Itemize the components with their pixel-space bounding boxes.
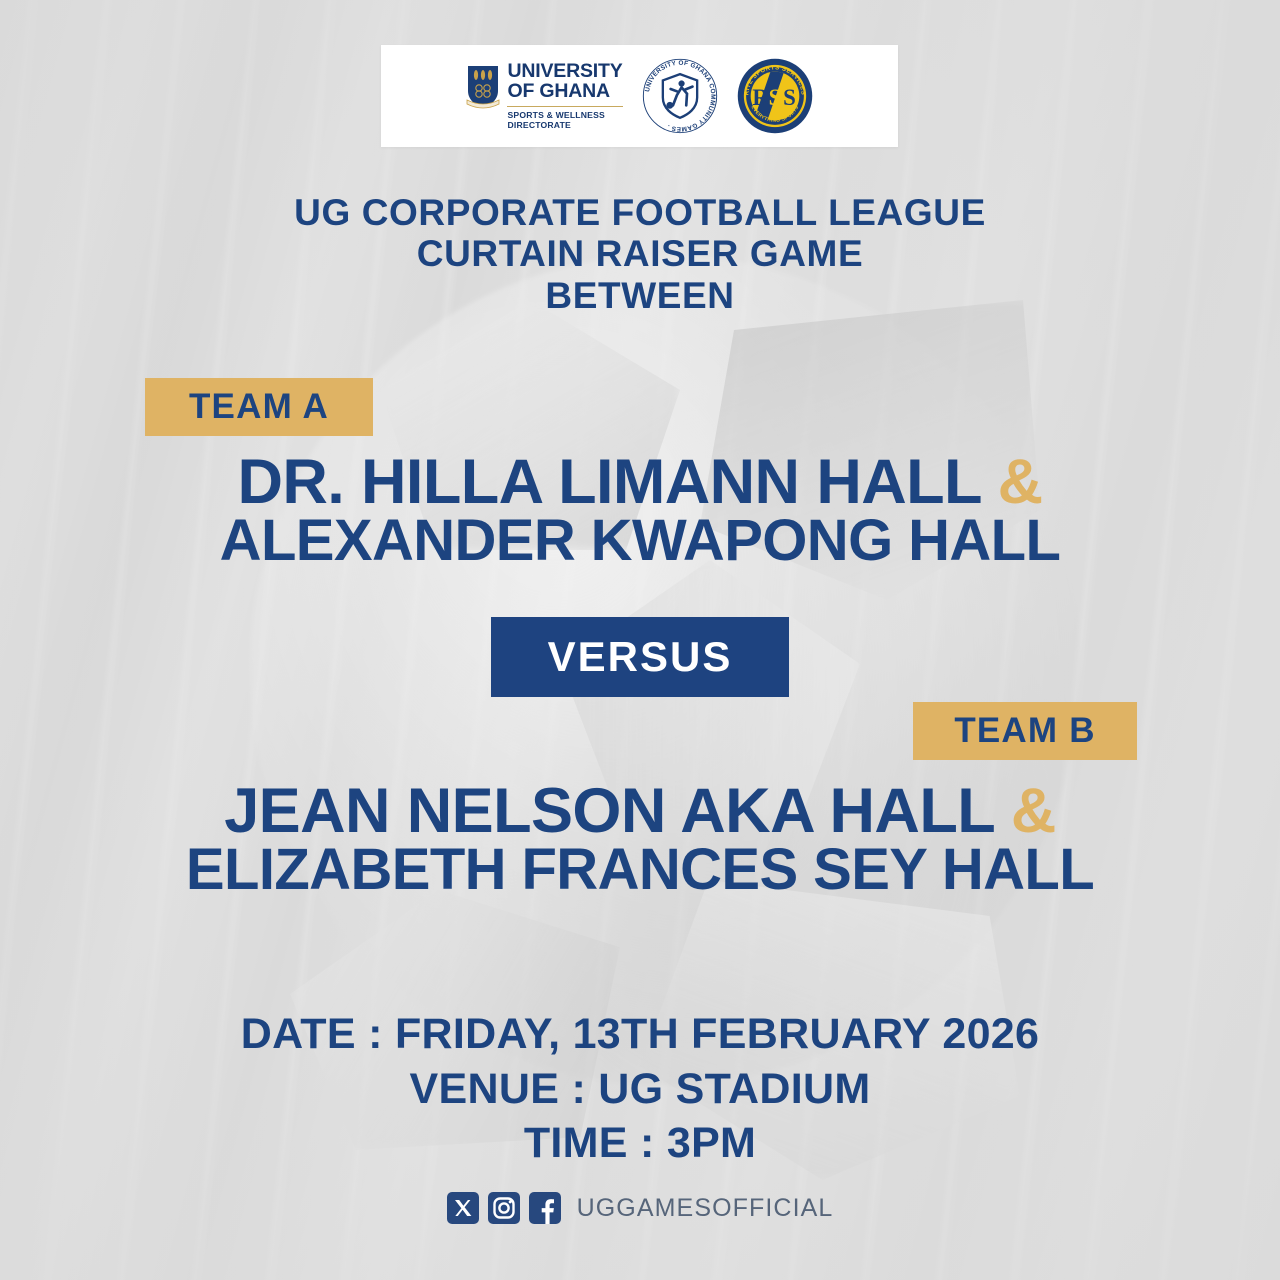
team-a-name-line2: ALEXANDER KWAPONG HALL xyxy=(0,513,1280,569)
ug-crest-icon xyxy=(466,64,500,110)
logo-banner: UNIVERSITY OF GHANA SPORTS & WELLNESS DI… xyxy=(381,45,898,147)
social-handle: UGGAMESOFFICIAL xyxy=(577,1194,834,1223)
facebook-icon[interactable] xyxy=(529,1192,561,1224)
headline-line2: CURTAIN RAISER GAME xyxy=(0,233,1280,274)
headline-line3: BETWEEN xyxy=(0,275,1280,316)
team-a-badge: TEAM A xyxy=(145,378,373,436)
event-venue: VENUE : UG STADIUM xyxy=(0,1062,1280,1117)
university-name-line2: OF GHANA xyxy=(507,82,622,102)
event-poster: UNIVERSITY OF GHANA SPORTS & WELLNESS DI… xyxy=(0,0,1280,1280)
team-b-badge: TEAM B xyxy=(913,702,1137,760)
university-of-ghana-logo: UNIVERSITY OF GHANA SPORTS & WELLNESS DI… xyxy=(466,62,622,130)
svg-text:UNIVERSITY OF GHANA COMMUNITY: UNIVERSITY OF GHANA COMMUNITY GAMES . xyxy=(644,60,716,133)
headline: UG CORPORATE FOOTBALL LEAGUE CURTAIN RAI… xyxy=(0,192,1280,316)
wordmark-divider xyxy=(507,106,622,107)
team-b-name-line2: ELIZABETH FRANCES SEY HALL xyxy=(0,842,1280,898)
versus-badge: VERSUS xyxy=(491,617,789,697)
svg-text:S: S xyxy=(783,85,796,110)
directorate-line1: SPORTS & WELLNESS xyxy=(507,110,622,120)
rite-sports-services-icon: RITE SPORTS SERVICES EVERYTHING SPORTS R… xyxy=(737,58,813,134)
svg-text:R: R xyxy=(752,85,769,110)
directorate-line2: DIRECTORATE xyxy=(507,120,622,130)
event-details: DATE : FRIDAY, 13TH FEBRUARY 2026 VENUE … xyxy=(0,1007,1280,1171)
team-b-hall1: JEAN NELSON AKA HALL xyxy=(224,776,994,846)
svg-text:S: S xyxy=(768,85,781,110)
team-a-name: DR. HILLA LIMANN HALL & ALEXANDER KWAPON… xyxy=(0,452,1280,569)
x-twitter-icon[interactable] xyxy=(447,1192,479,1224)
team-b-name: JEAN NELSON AKA HALL & ELIZABETH FRANCES… xyxy=(0,781,1280,898)
ug-community-games-icon: UNIVERSITY OF GHANA COMMUNITY GAMES . xyxy=(641,57,719,135)
team-a-ampersand: & xyxy=(998,447,1043,517)
social-footer: UGGAMESOFFICIAL xyxy=(0,1192,1280,1224)
event-time: TIME : 3PM xyxy=(0,1116,1280,1171)
team-a-hall1: DR. HILLA LIMANN HALL xyxy=(237,447,980,517)
university-wordmark: UNIVERSITY OF GHANA SPORTS & WELLNESS DI… xyxy=(507,62,622,130)
instagram-icon[interactable] xyxy=(488,1192,520,1224)
event-date: DATE : FRIDAY, 13TH FEBRUARY 2026 xyxy=(0,1007,1280,1062)
team-b-name-line1: JEAN NELSON AKA HALL & xyxy=(0,781,1280,842)
team-b-ampersand: & xyxy=(1011,776,1056,846)
university-name-line1: UNIVERSITY xyxy=(507,62,622,82)
headline-line1: UG CORPORATE FOOTBALL LEAGUE xyxy=(0,192,1280,233)
team-a-name-line1: DR. HILLA LIMANN HALL & xyxy=(0,452,1280,513)
